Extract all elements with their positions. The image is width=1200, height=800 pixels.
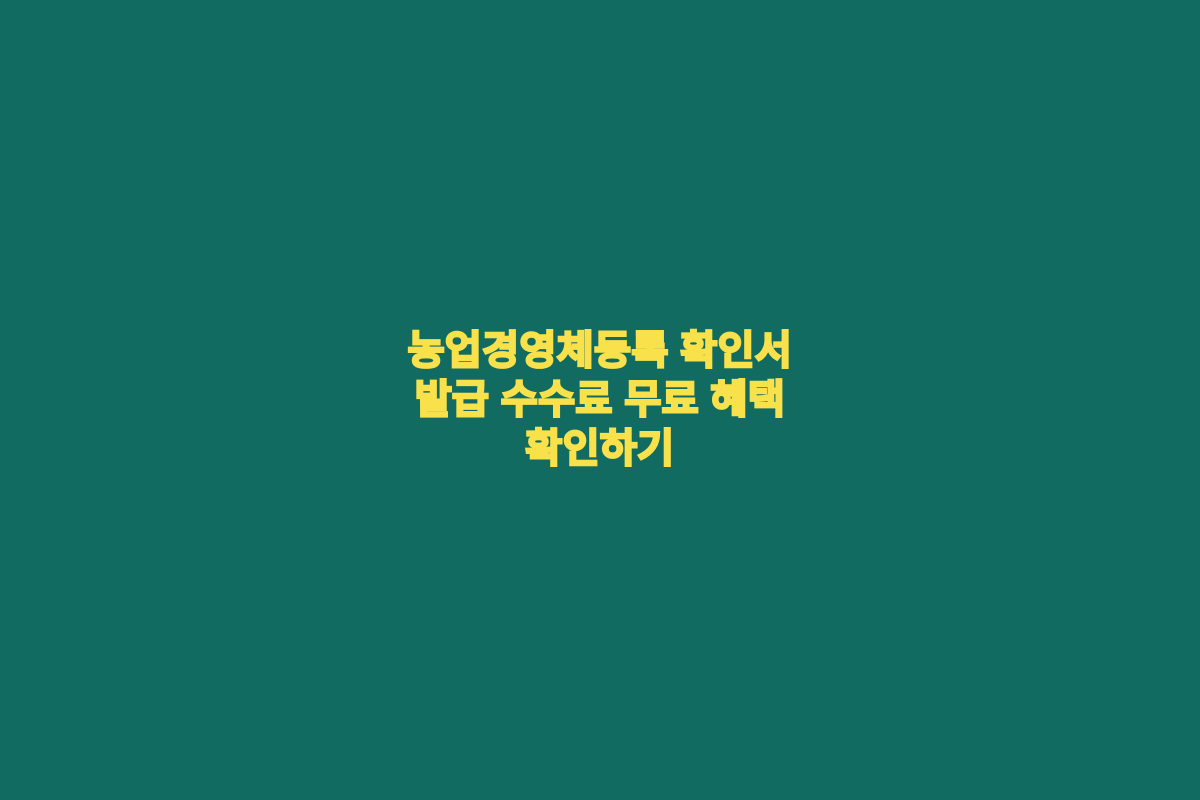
page-title: 농업경영체등록 확인서 발급 수수료 무료 혜택 확인하기	[0, 327, 1200, 474]
headline-line-3: 확인하기	[24, 425, 1176, 474]
headline-line-1: 농업경영체등록 확인서	[24, 327, 1176, 376]
headline-line-2: 발급 수수료 무료 혜택	[24, 376, 1176, 425]
banner-canvas: 농업경영체등록 확인서 발급 수수료 무료 혜택 확인하기	[0, 0, 1200, 800]
